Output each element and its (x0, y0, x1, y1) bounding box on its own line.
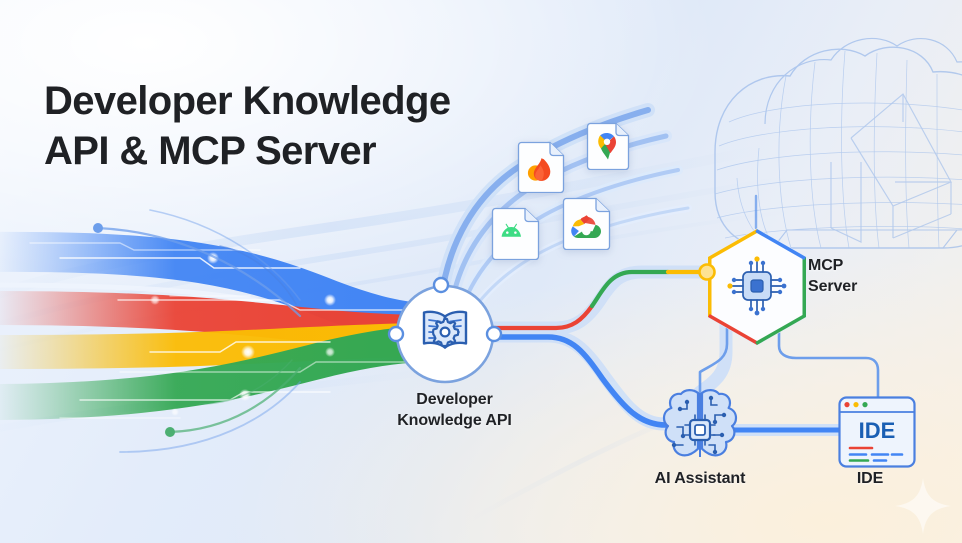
label-ide: IDE (805, 468, 935, 489)
label-ai-assistant: AI Assistant (600, 468, 800, 489)
brain-circuit-icon (664, 390, 736, 457)
label-mcp-server: MCP Server (808, 255, 962, 297)
label-developer-knowledge-api: Developer Knowledge API (327, 389, 582, 431)
node-developer-knowledge-api[interactable] (393, 282, 497, 386)
dka-port-right (487, 327, 501, 341)
book-gear-icon (424, 312, 466, 348)
illustration-canvas: IDE Developer Knowledge API & MCP Server… (0, 0, 962, 543)
node-mcp-server[interactable] (701, 226, 813, 348)
mcp-input-port (700, 265, 715, 280)
node-ai-assistant[interactable] (657, 387, 743, 465)
page-title: Developer Knowledge API & MCP Server (44, 76, 450, 176)
ide-window-label: IDE (859, 418, 896, 443)
window-traffic-lights (844, 402, 867, 407)
dka-port-left (389, 327, 403, 341)
node-ide[interactable]: IDE (838, 396, 916, 468)
dka-port-top (434, 278, 448, 292)
